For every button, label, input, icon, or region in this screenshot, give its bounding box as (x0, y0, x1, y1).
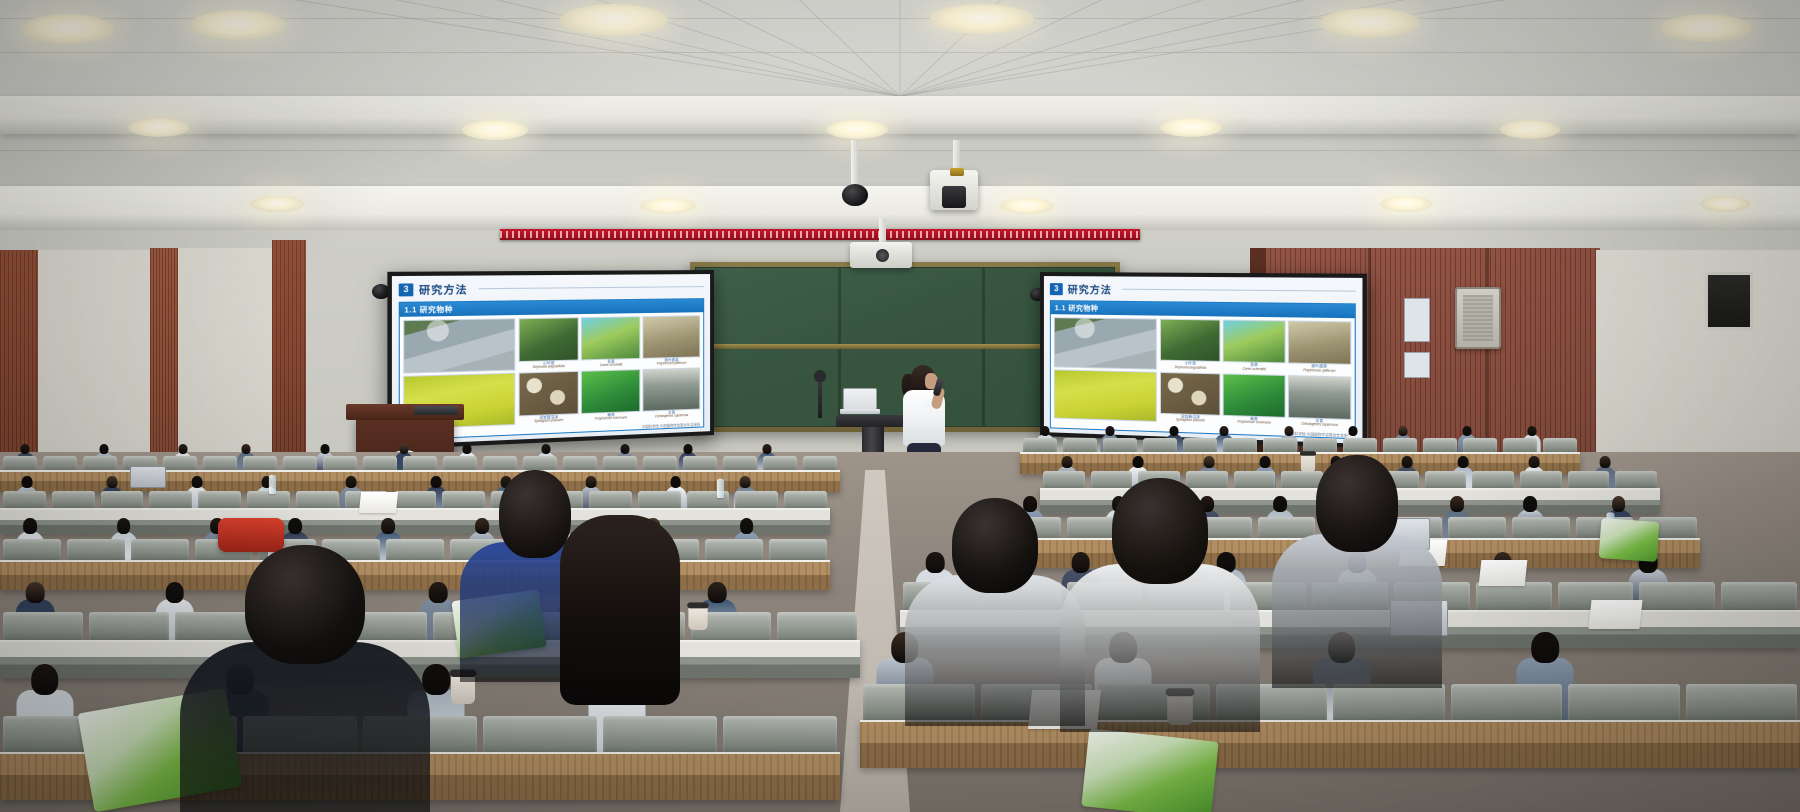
downlight-11 (1500, 120, 1560, 139)
audience-head (1450, 496, 1464, 512)
hero-image-rocky-slope-right (1054, 317, 1157, 369)
foreground-person-head (1112, 478, 1208, 584)
ceiling-projector-right (930, 170, 978, 210)
audience-head (1528, 456, 1539, 468)
seat-back (3, 539, 61, 562)
slide-header-right: 3 研究方法 (1050, 281, 1356, 299)
audience-head (670, 476, 681, 488)
seat-back (723, 716, 837, 754)
downlight-7 (128, 118, 190, 137)
slide-rule-right (1122, 289, 1356, 292)
downlight-16 (1700, 196, 1750, 212)
lecture-hall-scene: 3 研究方法 1.1 研究物种 小叶章Deyeuxia angustifolia… (0, 0, 1800, 812)
audience-head (740, 518, 754, 534)
audience-head (1612, 496, 1626, 512)
species-cell-right-6: 羊草Cleistogenes squarrosa (1288, 374, 1352, 428)
hero-image-meadow-right (1054, 369, 1157, 422)
audience-head (1105, 426, 1114, 436)
species-cell-left-4: 泥炭藓沼泽Sphagnum palustre (518, 371, 579, 425)
audience-head (1523, 496, 1537, 512)
species-photo-3 (643, 315, 701, 358)
foreground-person-head (499, 470, 571, 558)
red-led-rail (500, 229, 1140, 240)
audience-head (1457, 456, 1468, 468)
seat-back (1512, 517, 1570, 540)
foreground-person-body (1060, 564, 1260, 732)
species-cell-left-5: 藓类Polytrichum commune (581, 369, 640, 422)
species-cells-left: 小叶章Deyeuxia angustifolia苔草Carex schmidti… (518, 315, 700, 425)
foreground-person-left (180, 545, 430, 812)
species-name-latin-2: Carex schmidtii (581, 363, 640, 369)
seat-back (1333, 684, 1445, 722)
audience-head (26, 582, 45, 603)
audience-head (288, 518, 302, 534)
downlight-1 (22, 14, 114, 44)
audience-head (740, 476, 751, 488)
audience-head (22, 476, 33, 488)
dome-camera-icon (842, 184, 868, 206)
downlight-8 (462, 120, 528, 140)
laptop-screen (843, 388, 877, 410)
species-name-latin-3: Polytrichum piliferum (643, 362, 701, 367)
water-bottle[interactable] (717, 479, 724, 498)
foreground-person-center-right (905, 498, 1085, 713)
conference-tote-bag[interactable] (1081, 728, 1218, 812)
species-cell-right-3: 狭叶甜茅Polytrichum piliferum (1288, 320, 1352, 373)
audience-head (321, 444, 330, 454)
lectern-microphone (818, 378, 822, 418)
seat-back (3, 612, 83, 642)
seat-back (1568, 684, 1680, 722)
seat-back (777, 612, 857, 642)
presenter-laptop[interactable] (840, 388, 880, 418)
audience-head (178, 444, 187, 454)
audience-head (382, 518, 396, 534)
foreground-person-body (905, 575, 1085, 726)
audience-head (242, 444, 251, 454)
conference-tote-bag[interactable] (1599, 518, 1660, 562)
paper-handout[interactable] (1588, 600, 1642, 629)
audience-head (1133, 456, 1144, 468)
species-photo-3 (1288, 320, 1352, 365)
downlight-12 (250, 196, 304, 212)
projection-screen-right: 3 研究方法 1.1 研究物种 小叶章Deyeuxia angustifolia… (1040, 272, 1367, 448)
seat-back (67, 539, 125, 562)
audience-head (1062, 456, 1073, 468)
seat-back (89, 612, 169, 642)
audience-head (429, 582, 448, 603)
audience-head (346, 476, 357, 488)
species-cell-left-1: 小叶章Deyeuxia angustifolia (518, 317, 579, 370)
downlight-6 (1660, 14, 1752, 42)
audience-head (399, 444, 408, 454)
audience-head (708, 582, 727, 603)
downlight-14 (1000, 198, 1054, 214)
downlight-4 (930, 4, 1034, 34)
audience-head (1349, 426, 1358, 436)
audience-head (1041, 426, 1050, 436)
foreground-person-right (1060, 478, 1260, 718)
slide-right: 3 研究方法 1.1 研究物种 小叶章Deyeuxia angustifolia… (1044, 276, 1363, 444)
audience-head (1599, 456, 1610, 468)
audience-head (1170, 426, 1179, 436)
audience-head (23, 518, 37, 534)
downlight-2 (190, 10, 286, 40)
foreground-person-long-hair (560, 515, 680, 705)
downlight-5 (1320, 8, 1420, 38)
downlight-3 (560, 4, 668, 36)
species-name-latin-3: Polytrichum piliferum (1288, 368, 1352, 374)
audience-head (117, 518, 131, 534)
downlight-15 (1380, 196, 1432, 212)
species-name-latin-2: Carex schmidtii (1223, 367, 1285, 372)
slide-hero-images-right (1054, 317, 1157, 422)
species-cells-right: 小叶章Deyeuxia angustifolia苔草Carex schmidti… (1160, 319, 1351, 429)
seat-back (1721, 582, 1797, 612)
species-name-latin-1: Deyeuxia angustifolia (1160, 365, 1221, 370)
audience-head (763, 444, 772, 454)
audience-laptop[interactable] (130, 466, 166, 488)
podium-control-panel[interactable] (414, 406, 458, 415)
paper-handout[interactable] (1479, 560, 1528, 586)
species-name-latin-4: Sphagnum palustre (1160, 418, 1221, 424)
audience-head (1463, 426, 1472, 436)
audience-head (99, 444, 108, 454)
coffee-cup[interactable] (688, 606, 707, 630)
audience-head (107, 476, 118, 488)
slide-header-left: 3 研究方法 (399, 279, 704, 297)
downlight-13 (640, 198, 696, 214)
laptop-keyboard[interactable] (840, 409, 880, 414)
seat-back (483, 716, 597, 754)
seat-back (705, 539, 763, 562)
audience-head (1284, 426, 1293, 436)
seat-back (769, 539, 827, 562)
species-photo-2 (1223, 320, 1285, 364)
seat-back (603, 716, 717, 754)
ceiling-projector-center (850, 242, 912, 268)
downlight-9 (826, 120, 888, 139)
species-photo-5 (1223, 373, 1285, 418)
audience-head (431, 476, 442, 488)
water-bottle[interactable] (269, 475, 276, 494)
audience-head (1532, 632, 1560, 663)
wall-plaster-right (1596, 250, 1800, 480)
center-projector-lens-icon (876, 249, 889, 262)
wall-notice-sign-lower (1404, 352, 1430, 378)
downlight-10 (1160, 118, 1222, 137)
species-photo-1 (1160, 319, 1221, 362)
foreground-person-far-right (1272, 455, 1442, 675)
slide-rule-left (479, 286, 705, 289)
far-right-speaker (1705, 272, 1753, 330)
audience-head (463, 444, 472, 454)
species-cell-left-2: 苔草Carex schmidtii (581, 316, 640, 369)
foreground-person-head (1316, 455, 1398, 552)
species-cell-right-5: 藓类Polytrichum commune (1223, 373, 1285, 426)
desk-row-9 (860, 720, 1800, 768)
projector-lens-icon (942, 186, 966, 208)
foreground-person-body (1272, 534, 1442, 688)
slide-title-left: 研究方法 (419, 281, 468, 297)
audience-head (542, 444, 551, 454)
audience-head (1527, 426, 1536, 436)
species-photo-4 (1160, 371, 1221, 415)
audience-head (21, 444, 30, 454)
slide-badge-right: 3 (1050, 283, 1063, 295)
slide-badge-left: 3 (399, 283, 414, 296)
seat-back (1639, 582, 1715, 612)
audience-head (1260, 456, 1271, 468)
audience-head (1204, 456, 1215, 468)
seat-back (1451, 684, 1563, 722)
audience-head (684, 444, 693, 454)
species-name-latin-1: Deyeuxia angustifolia (518, 365, 579, 371)
species-photo-1 (518, 317, 579, 362)
foreground-person-body (180, 642, 430, 812)
wall-wood-panel-left-3 (272, 240, 306, 480)
center-projector-pole (879, 218, 886, 244)
species-name-latin-6: Cleistogenes squarrosa (643, 414, 701, 420)
species-photo-4 (518, 371, 579, 416)
slide-title-right: 研究方法 (1068, 281, 1112, 297)
camera-mount-pole (851, 140, 858, 188)
foreground-person-head (952, 498, 1038, 593)
species-photo-6 (643, 367, 701, 411)
paper-handout[interactable] (359, 492, 398, 513)
foreground-person-head (245, 545, 365, 664)
species-cell-right-2: 苔草Carex schmidtii (1223, 320, 1285, 373)
audience-head (620, 444, 629, 454)
audience-head (1398, 426, 1407, 436)
species-photo-5 (581, 369, 640, 414)
desk-row-2 (0, 470, 840, 492)
species-cell-right-4: 泥炭藓沼泽Sphagnum palustre (1160, 371, 1221, 424)
slide-figure-grid-right: 小叶章Deyeuxia angustifolia苔草Carex schmidti… (1051, 314, 1355, 432)
slide-body-right: 1.1 研究物种 小叶章Deyeuxia angustifolia苔草Carex… (1050, 300, 1356, 439)
species-cell-left-6: 羊草Cleistogenes squarrosa (643, 367, 701, 419)
wall-notice-sign (1404, 298, 1430, 342)
ceiling (0, 0, 1800, 246)
species-photo-6 (1288, 374, 1352, 419)
seat-back (1476, 582, 1552, 612)
audience-head (191, 476, 202, 488)
wall-speaker-right (1455, 287, 1501, 349)
hero-image-rocky-slope (403, 318, 515, 373)
species-cell-left-3: 狭叶甜茅Polytrichum piliferum (643, 315, 701, 367)
projector-indicator (950, 168, 964, 176)
seat-back (1448, 517, 1506, 540)
species-cell-right-1: 小叶章Deyeuxia angustifolia (1160, 319, 1221, 371)
seat-back (1686, 684, 1798, 722)
audience-head (31, 664, 59, 695)
audience-head (1220, 426, 1229, 436)
species-photo-2 (581, 316, 640, 360)
